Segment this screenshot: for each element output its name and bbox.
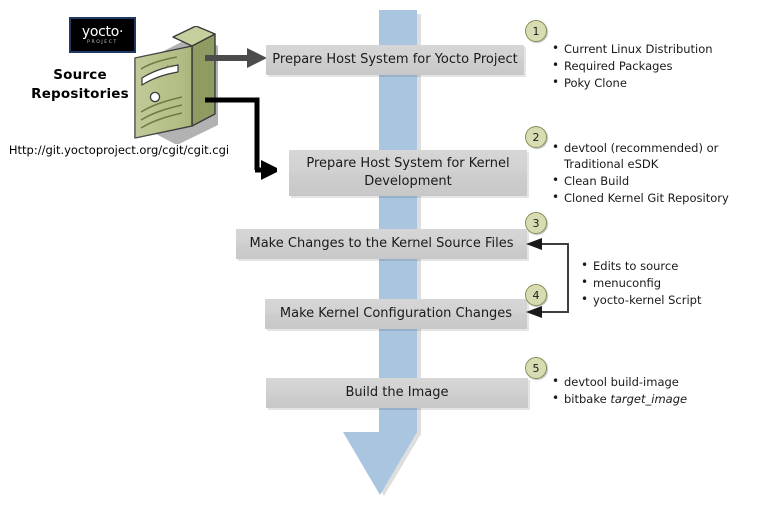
- yocto-project-logo: yocto· PROJECT: [69, 17, 136, 53]
- flow-arrow-head: [343, 432, 417, 495]
- list-item: devtool build-image: [551, 374, 751, 390]
- step-box-2-label: Prepare Host System for Kernel Developme…: [289, 155, 527, 191]
- yocto-logo-wordmark: yocto·: [82, 25, 123, 39]
- step-bullets-1: Current Linux Distribution Required Pack…: [551, 41, 761, 92]
- list-item: Current Linux Distribution: [551, 41, 761, 57]
- step-badge-2: 2: [525, 126, 547, 148]
- connector-server-to-step1: [205, 45, 271, 71]
- step-badge-2-number: 2: [533, 131, 540, 144]
- bitbake-target-placeholder: target_image: [610, 392, 687, 406]
- diagram-canvas: yocto· PROJECT Source Repositories Http:…: [0, 0, 769, 517]
- list-item: devtool (recommended) or Traditional eSD…: [551, 140, 731, 172]
- step-box-4-label: Make Kernel Configuration Changes: [280, 305, 512, 323]
- source-repositories-label: Source Repositories: [18, 66, 142, 104]
- step-badge-3: 3: [525, 212, 547, 234]
- step-bullets-2: devtool (recommended) or Traditional eSD…: [551, 140, 731, 207]
- step-box-5[interactable]: Build the Image: [266, 378, 528, 408]
- bitbake-command-prefix: bitbake: [564, 392, 610, 406]
- step-box-5-label: Build the Image: [346, 384, 449, 402]
- step-bullets-3-4: Edits to source menuconfig yocto-kernel …: [580, 258, 760, 309]
- list-item: Poky Clone: [551, 75, 761, 91]
- step-bullets-5: devtool build-image bitbake target_image: [551, 374, 751, 408]
- step-box-3[interactable]: Make Changes to the Kernel Source Files: [236, 229, 527, 259]
- step-badge-5-number: 5: [533, 362, 540, 375]
- list-item: menuconfig: [580, 275, 760, 291]
- list-item: Clean Build: [551, 173, 731, 189]
- step-badge-1-number: 1: [533, 25, 540, 38]
- list-item: yocto-kernel Script: [580, 292, 760, 308]
- step-box-2[interactable]: Prepare Host System for Kernel Developme…: [289, 150, 527, 196]
- yocto-logo-subtext: PROJECT: [87, 39, 118, 46]
- connector-server-to-step2: [205, 96, 277, 182]
- source-repository-url: Http://git.yoctoproject.org/cgit/cgit.cg…: [4, 143, 234, 157]
- yocto-logo-text: yocto: [82, 24, 119, 40]
- source-label-line2: Repositories: [18, 85, 142, 104]
- step-box-1-label: Prepare Host System for Yocto Project: [272, 51, 517, 69]
- list-item: Required Packages: [551, 58, 761, 74]
- step-badge-1: 1: [525, 20, 547, 42]
- list-item: Cloned Kernel Git Repository: [551, 190, 731, 206]
- list-item: Edits to source: [580, 258, 760, 274]
- step-badge-5: 5: [525, 357, 547, 379]
- list-item: bitbake target_image: [551, 391, 751, 407]
- step-box-1[interactable]: Prepare Host System for Yocto Project: [266, 45, 524, 75]
- step-box-3-label: Make Changes to the Kernel Source Files: [250, 235, 514, 253]
- yocto-logo-dot: ·: [119, 24, 123, 40]
- connector-bracket-steps-3-4: [524, 236, 584, 320]
- step-badge-3-number: 3: [533, 217, 540, 230]
- step-box-4[interactable]: Make Kernel Configuration Changes: [265, 299, 527, 329]
- source-label-line1: Source: [18, 66, 142, 85]
